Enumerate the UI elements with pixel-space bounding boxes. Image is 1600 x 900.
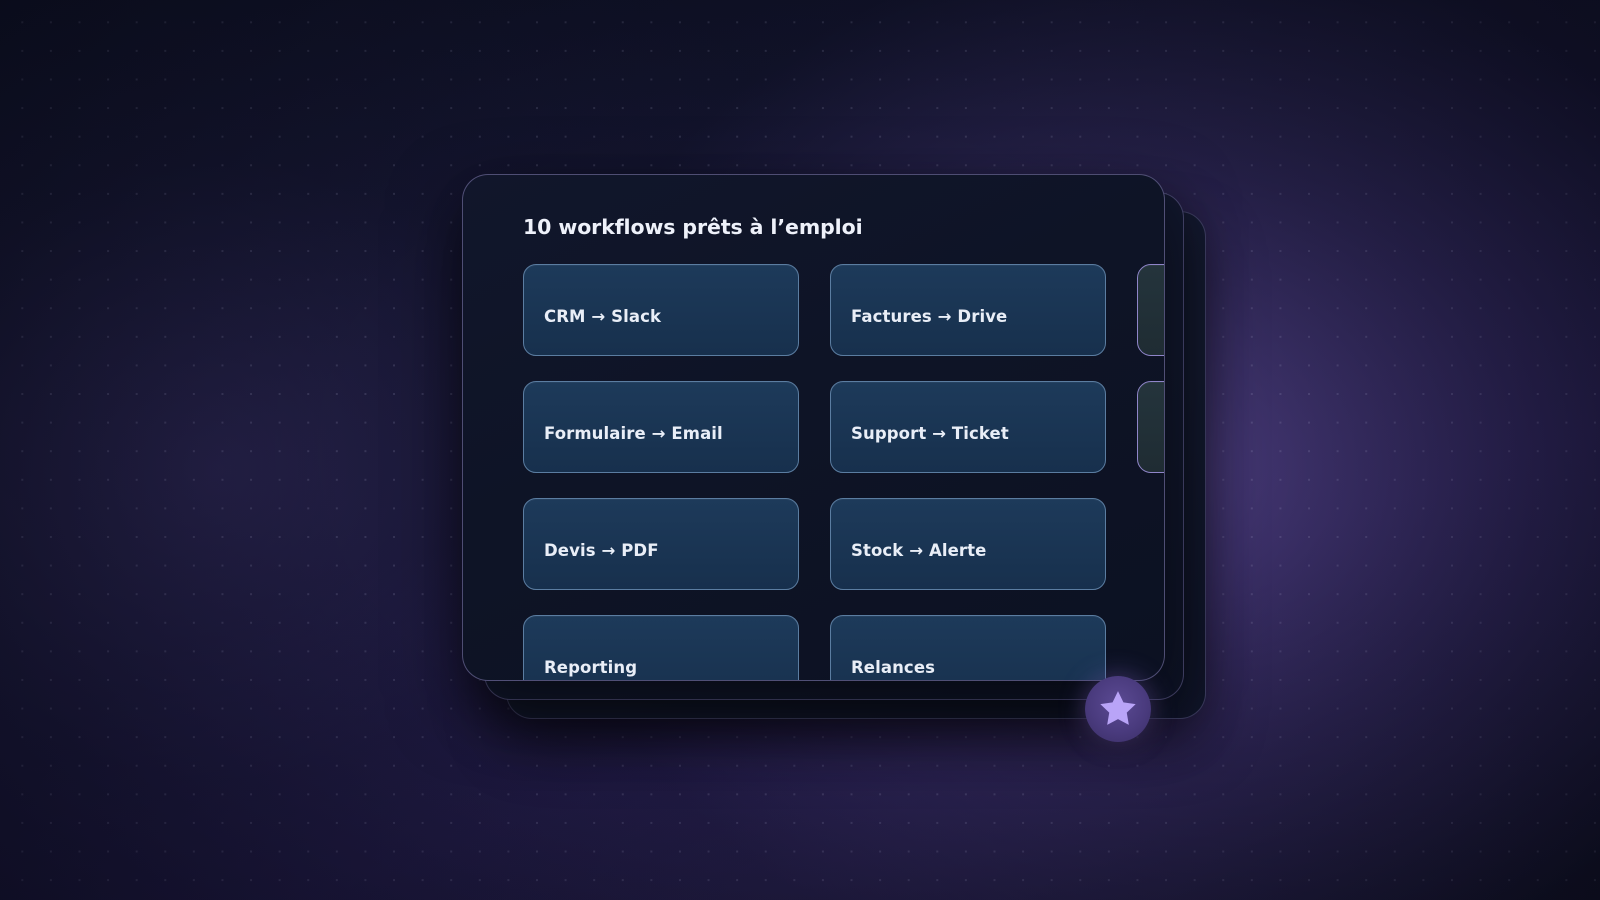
workflow-card-label: Formulaire → Email: [544, 424, 723, 443]
panel-stack: 10 workflows prêts à l’emploi CRM → Slac…: [0, 0, 1600, 900]
workflows-grid: CRM → Slack Factures → Drive Formulaire …: [523, 264, 1128, 682]
workflow-card-label: Relances: [851, 658, 935, 677]
workflow-card-label: Reporting: [544, 658, 637, 677]
screen-root: 10 workflows prêts à l’emploi CRM → Slac…: [0, 0, 1600, 900]
workflow-card-label: Support → Ticket: [851, 424, 1009, 443]
workflow-card-label: Devis → PDF: [544, 541, 659, 560]
workflow-card-ghost-1[interactable]: [1137, 264, 1165, 356]
workflow-card-devis-pdf[interactable]: Devis → PDF: [523, 498, 799, 590]
workflow-card-crm-slack[interactable]: CRM → Slack: [523, 264, 799, 356]
workflow-card-factures-drive[interactable]: Factures → Drive: [830, 264, 1106, 356]
panel-content: 10 workflows prêts à l’emploi CRM → Slac…: [463, 175, 1164, 680]
page-title: 10 workflows prêts à l’emploi: [523, 217, 1128, 238]
star-badge[interactable]: [1085, 676, 1151, 742]
star-icon: [1097, 688, 1139, 730]
workflow-card-label: CRM → Slack: [544, 307, 661, 326]
grid-spacer-1: [1137, 498, 1165, 590]
workflow-card-formulaire-email[interactable]: Formulaire → Email: [523, 381, 799, 473]
workflows-panel: 10 workflows prêts à l’emploi CRM → Slac…: [462, 174, 1165, 681]
workflow-card-ghost-2[interactable]: [1137, 381, 1165, 473]
workflow-card-label: Factures → Drive: [851, 307, 1007, 326]
grid-spacer-2: [1137, 615, 1165, 682]
workflow-card-reporting[interactable]: Reporting: [523, 615, 799, 682]
workflow-card-support-ticket[interactable]: Support → Ticket: [830, 381, 1106, 473]
workflow-card-stock-alerte[interactable]: Stock → Alerte: [830, 498, 1106, 590]
workflow-card-label: Stock → Alerte: [851, 541, 986, 560]
workflow-card-relances[interactable]: Relances: [830, 615, 1106, 682]
